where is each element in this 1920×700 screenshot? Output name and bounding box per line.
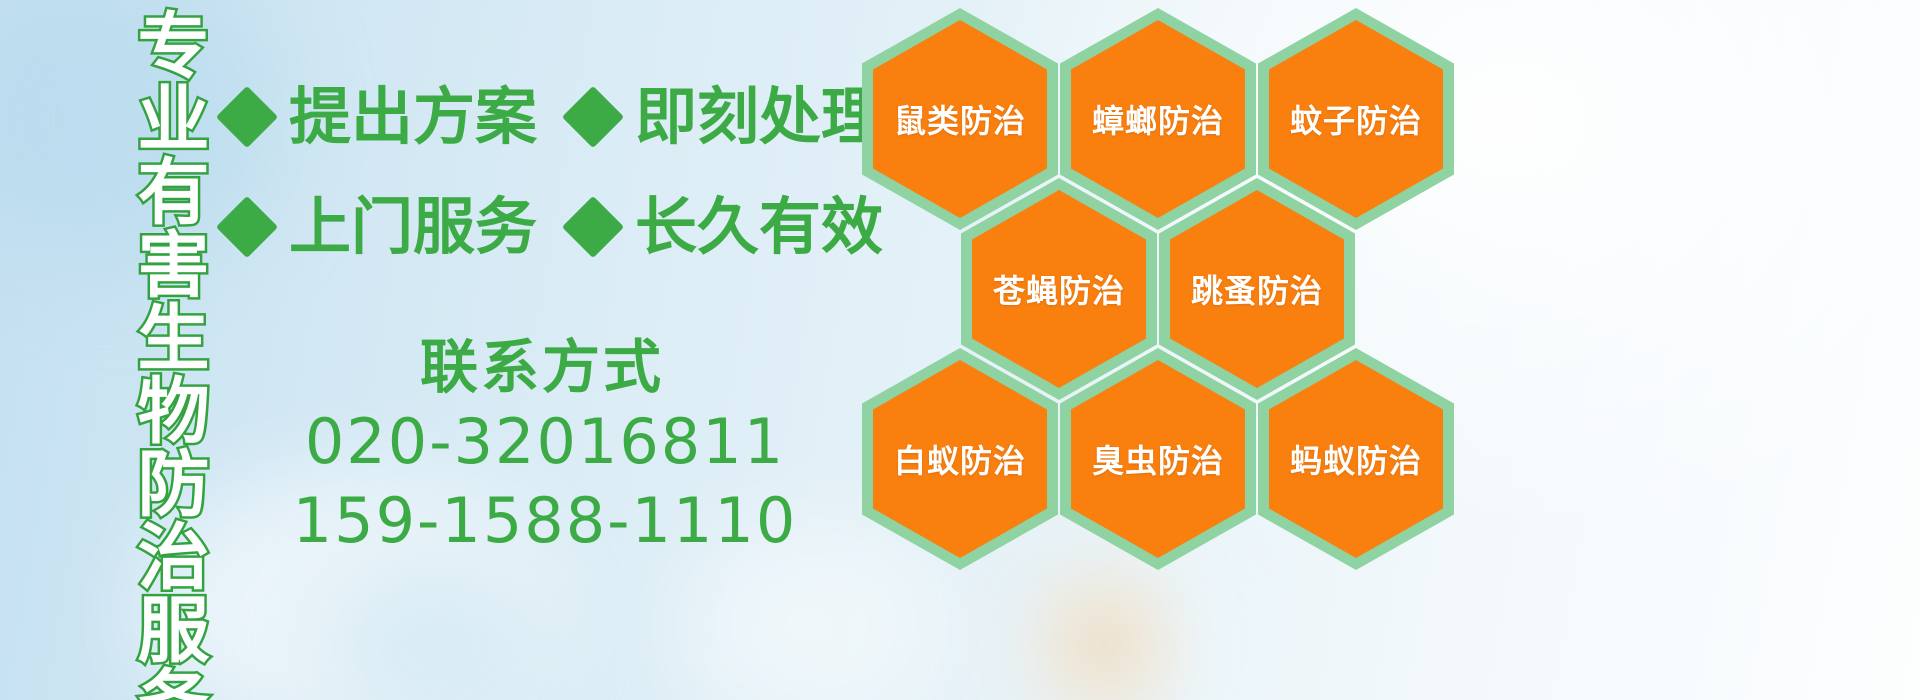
phone-landline[interactable]: 020-32016811 <box>215 405 875 478</box>
promo-banner: 专业有害生物防治服务 提出方案 即刻处理 上门服务 长久有效 联系方式 020-… <box>0 0 1920 700</box>
center-content: 提出方案 即刻处理 上门服务 长久有效 联系方式 020-32016811 15… <box>215 0 875 700</box>
feature-label: 上门服务 <box>289 196 537 258</box>
diamond-icon <box>562 196 624 258</box>
service-label: 蚂蚁防治 <box>1290 436 1422 482</box>
service-label: 白蚁防治 <box>894 436 1026 482</box>
feature-label: 长久有效 <box>635 196 883 258</box>
diamond-icon <box>216 196 278 258</box>
service-label: 苍蝇防治 <box>993 266 1125 312</box>
service-honeycomb: 鼠类防治 蟑螂防治 蚊子防治 苍蝇防治 跳蚤防治 白蚁防治 臭虫防治 <box>862 0 1920 700</box>
vertical-headline: 专业有害生物防治服务 <box>104 8 204 698</box>
diamond-icon <box>216 86 278 148</box>
service-label: 跳蚤防治 <box>1191 266 1323 312</box>
feature-row: 上门服务 长久有效 <box>225 196 899 258</box>
feature-label: 提出方案 <box>289 86 537 148</box>
feature-label: 即刻处理 <box>635 86 883 148</box>
feature-row: 提出方案 即刻处理 <box>225 86 899 148</box>
service-label: 臭虫防治 <box>1092 436 1224 482</box>
service-label: 鼠类防治 <box>894 96 1026 142</box>
service-label: 蟑螂防治 <box>1092 96 1224 142</box>
phone-mobile[interactable]: 159-1588-1110 <box>215 484 875 557</box>
service-label: 蚊子防治 <box>1290 96 1422 142</box>
contact-title: 联系方式 <box>420 320 664 404</box>
diamond-icon <box>562 86 624 148</box>
